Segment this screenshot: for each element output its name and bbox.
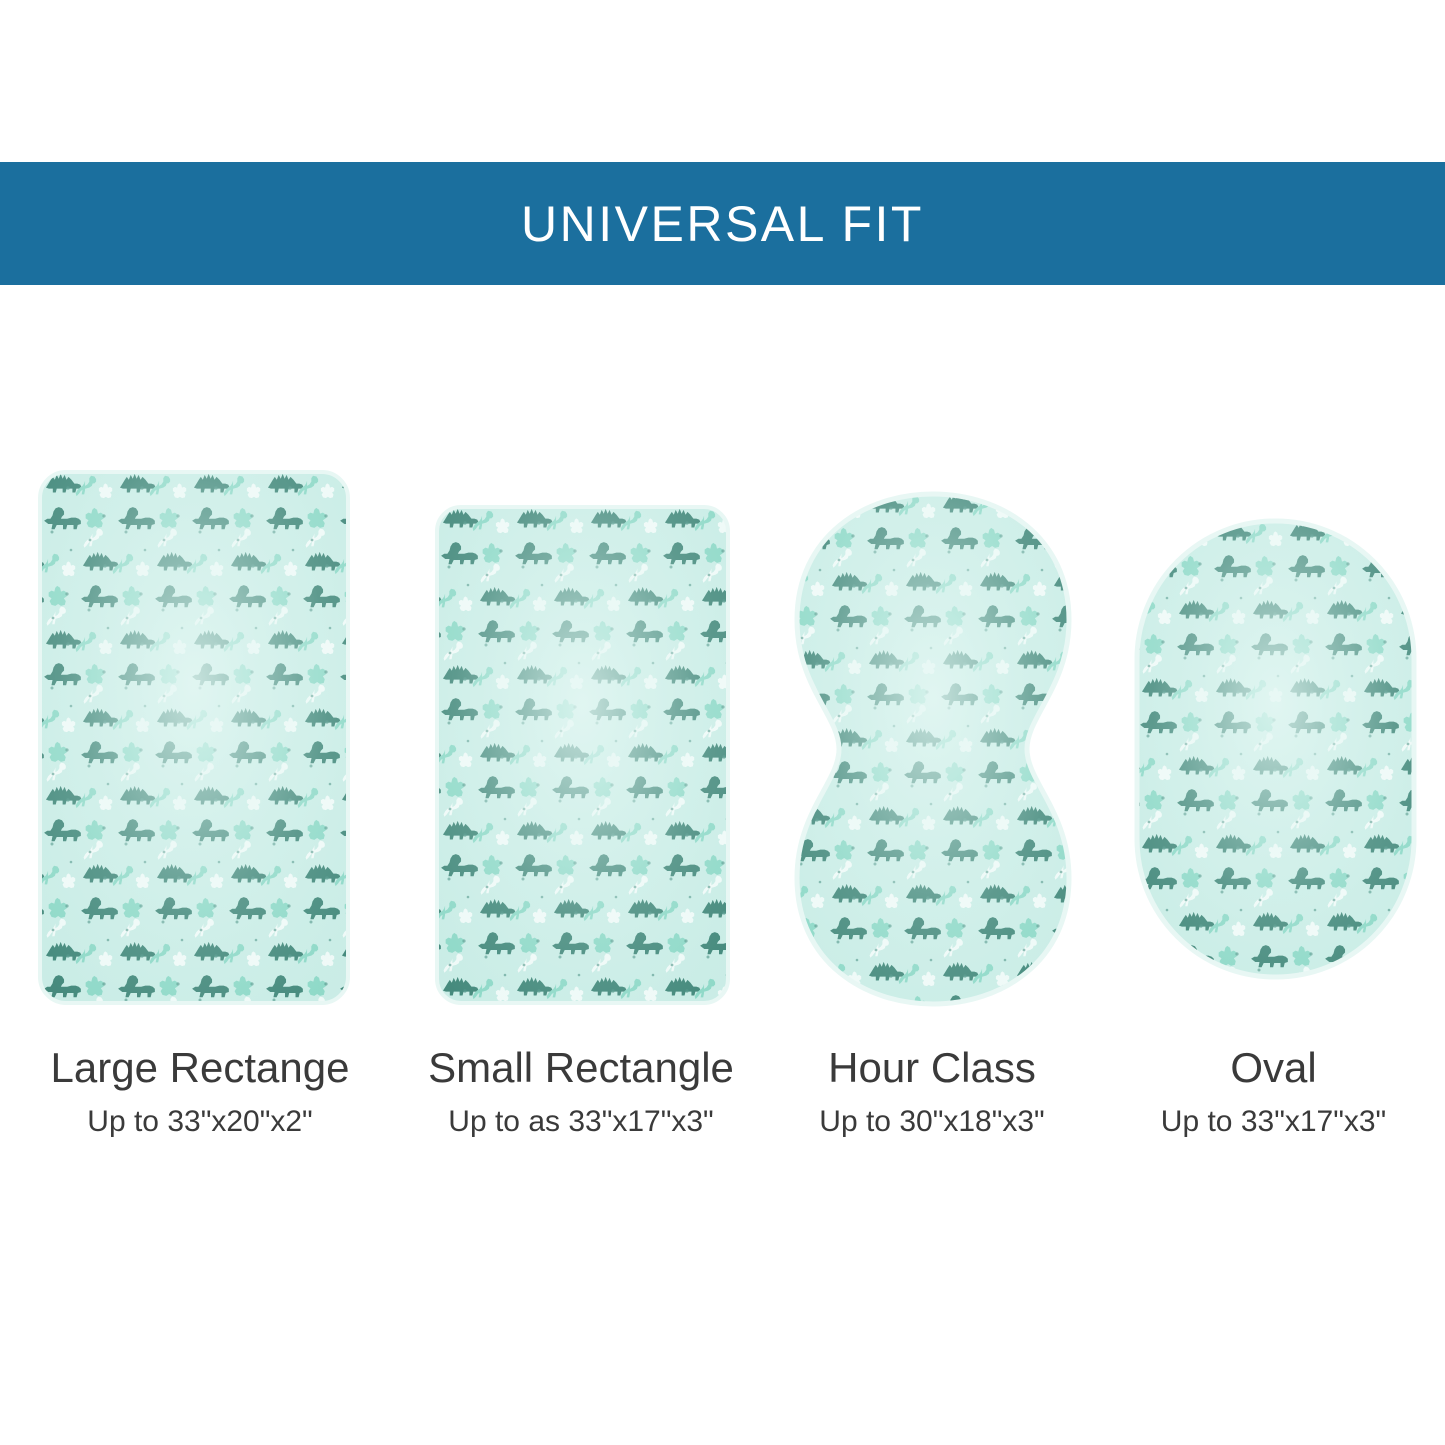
dino-motif	[1402, 577, 1417, 596]
print-dot	[1148, 977, 1151, 980]
print-dot	[800, 707, 803, 710]
sheet-oval-graphic	[1134, 518, 1417, 980]
dino-motif	[1367, 946, 1385, 966]
print-dot	[1078, 803, 1079, 806]
print-dot	[1037, 506, 1040, 509]
product-hour-class[interactable]: Hour Class Up to 30"x18"x3"	[762, 440, 1102, 1060]
product-label-oval: Oval	[1102, 1045, 1445, 1091]
print-dot	[1073, 534, 1076, 537]
print-dot	[999, 1002, 1002, 1005]
sheet-swatch-hour-class	[787, 490, 1079, 1008]
product-size-hour-class: Up to 30"x18"x3"	[762, 1105, 1102, 1138]
dino-motif	[1134, 945, 1140, 967]
print-dot	[1060, 559, 1063, 562]
dino-motif	[1143, 967, 1162, 980]
print-dot	[819, 725, 822, 728]
product-large-rectangle[interactable]: Large Rectange Up to 33"x20"x2"	[0, 440, 400, 1060]
dino-motif	[1052, 761, 1079, 783]
dino-motif	[1057, 996, 1075, 1008]
dino-motif	[1015, 995, 1052, 1008]
dino-motif	[825, 496, 845, 516]
print-dot	[1184, 969, 1187, 972]
print-dot	[1332, 969, 1335, 972]
print-dot	[1162, 534, 1165, 537]
dino-motif	[795, 494, 830, 513]
dino-motif	[1135, 914, 1155, 934]
print-dot	[1059, 785, 1062, 788]
dino-motif	[1047, 496, 1067, 516]
sheet-small-rectangle-graphic	[435, 505, 730, 1005]
dino-motif	[1057, 528, 1075, 548]
print-dot	[815, 974, 818, 977]
print-dot	[1074, 740, 1077, 743]
dino-motif	[1070, 659, 1079, 674]
product-label-hour-class: Hour Class	[762, 1045, 1102, 1091]
dino-motif	[1142, 522, 1177, 541]
print-dot	[814, 768, 817, 771]
print-dot	[1059, 941, 1062, 944]
dino-motif	[1404, 556, 1417, 576]
print-dot	[800, 551, 803, 554]
dino-motif	[1401, 912, 1417, 931]
print-dot	[1147, 579, 1150, 582]
dino-motif	[1017, 494, 1052, 513]
print-dot	[1073, 846, 1076, 849]
print-dot	[347, 999, 350, 1002]
product-label-small-rectangle: Small Rectangle	[400, 1045, 762, 1091]
sheet-large-rectangle-graphic	[38, 470, 350, 1005]
print-dot	[1041, 725, 1044, 728]
dino-motif	[1047, 964, 1067, 984]
dino-motif	[811, 737, 824, 752]
dino-motif	[787, 572, 793, 591]
dino-motif	[787, 917, 793, 939]
dino-motif	[787, 605, 793, 627]
print-dot	[1370, 977, 1373, 980]
print-dot	[1073, 1002, 1076, 1005]
product-size-small-rectangle: Up to as 33"x17"x3"	[400, 1105, 762, 1138]
print-dot	[1078, 491, 1079, 494]
dino-motif	[787, 761, 793, 783]
print-dot	[1073, 690, 1076, 693]
dino-motif	[1134, 600, 1140, 619]
sheet-hour-class-graphic	[787, 490, 1079, 1008]
print-dot	[1037, 974, 1040, 977]
product-size-oval: Up to 33"x17"x3"	[1102, 1105, 1445, 1138]
dino-motif	[798, 762, 816, 782]
print-dot	[1384, 534, 1387, 537]
print-dot	[1074, 584, 1077, 587]
print-dot	[1222, 977, 1225, 980]
print-dot	[815, 506, 818, 509]
dino-motif	[835, 996, 853, 1008]
dino-motif	[1033, 737, 1046, 752]
dino-motif	[1172, 524, 1192, 544]
banner-title: UNIVERSAL FIT	[521, 199, 924, 249]
print-dot	[1078, 647, 1079, 650]
dino-motif	[1070, 815, 1079, 830]
print-dot	[1060, 715, 1063, 718]
print-dot	[726, 506, 729, 509]
dino-motif	[1070, 503, 1079, 518]
dino-motif	[1365, 967, 1384, 980]
print-dot	[1074, 896, 1077, 899]
print-dot	[1078, 959, 1079, 962]
print-dot	[1407, 899, 1410, 902]
print-dot	[1407, 587, 1410, 590]
dino-motif	[1070, 971, 1079, 986]
print-dot	[1351, 519, 1354, 522]
dino-motif	[795, 962, 830, 981]
dino-motif	[1134, 912, 1140, 931]
dino-motif	[1399, 945, 1417, 967]
sheet-swatch-oval	[1134, 518, 1417, 980]
sheet-swatch-small-rectangle	[435, 505, 730, 1005]
sheet-swatch-large-rectangle	[38, 470, 350, 1005]
dino-motif	[788, 730, 808, 750]
dino-motif	[1054, 728, 1079, 747]
print-dot	[1406, 969, 1409, 972]
print-dot	[1203, 519, 1206, 522]
print-dot	[801, 793, 804, 796]
product-small-rectangle[interactable]: Small Rectangle Up to as 33"x17"x3"	[400, 440, 762, 1060]
dino-motif	[1394, 524, 1414, 544]
print-dot	[801, 949, 804, 952]
print-dot	[1383, 952, 1386, 955]
print-dot	[856, 491, 859, 494]
dino-motif	[787, 884, 793, 903]
product-size-large-rectangle: Up to 33"x20"x2"	[0, 1105, 400, 1138]
dino-motif	[1057, 684, 1075, 704]
print-dot	[1161, 952, 1164, 955]
dino-motif	[796, 783, 815, 802]
dino-motif	[1145, 946, 1163, 966]
dino-motif	[1364, 522, 1399, 541]
dino-motif	[787, 728, 793, 747]
product-oval[interactable]: Oval Up to 33"x17"x3"	[1102, 440, 1445, 1060]
dino-motif	[793, 995, 830, 1008]
print-dot	[1004, 491, 1007, 494]
print-dot	[851, 1002, 854, 1005]
dino-motif	[1055, 705, 1074, 724]
print-dot	[1036, 768, 1039, 771]
product-shapes-row: Large Rectange Up to 33"x20"x2"	[0, 440, 1445, 1060]
universal-fit-banner: UNIVERSAL FIT	[0, 162, 1445, 285]
product-label-large-rectangle: Large Rectange	[0, 1045, 400, 1091]
